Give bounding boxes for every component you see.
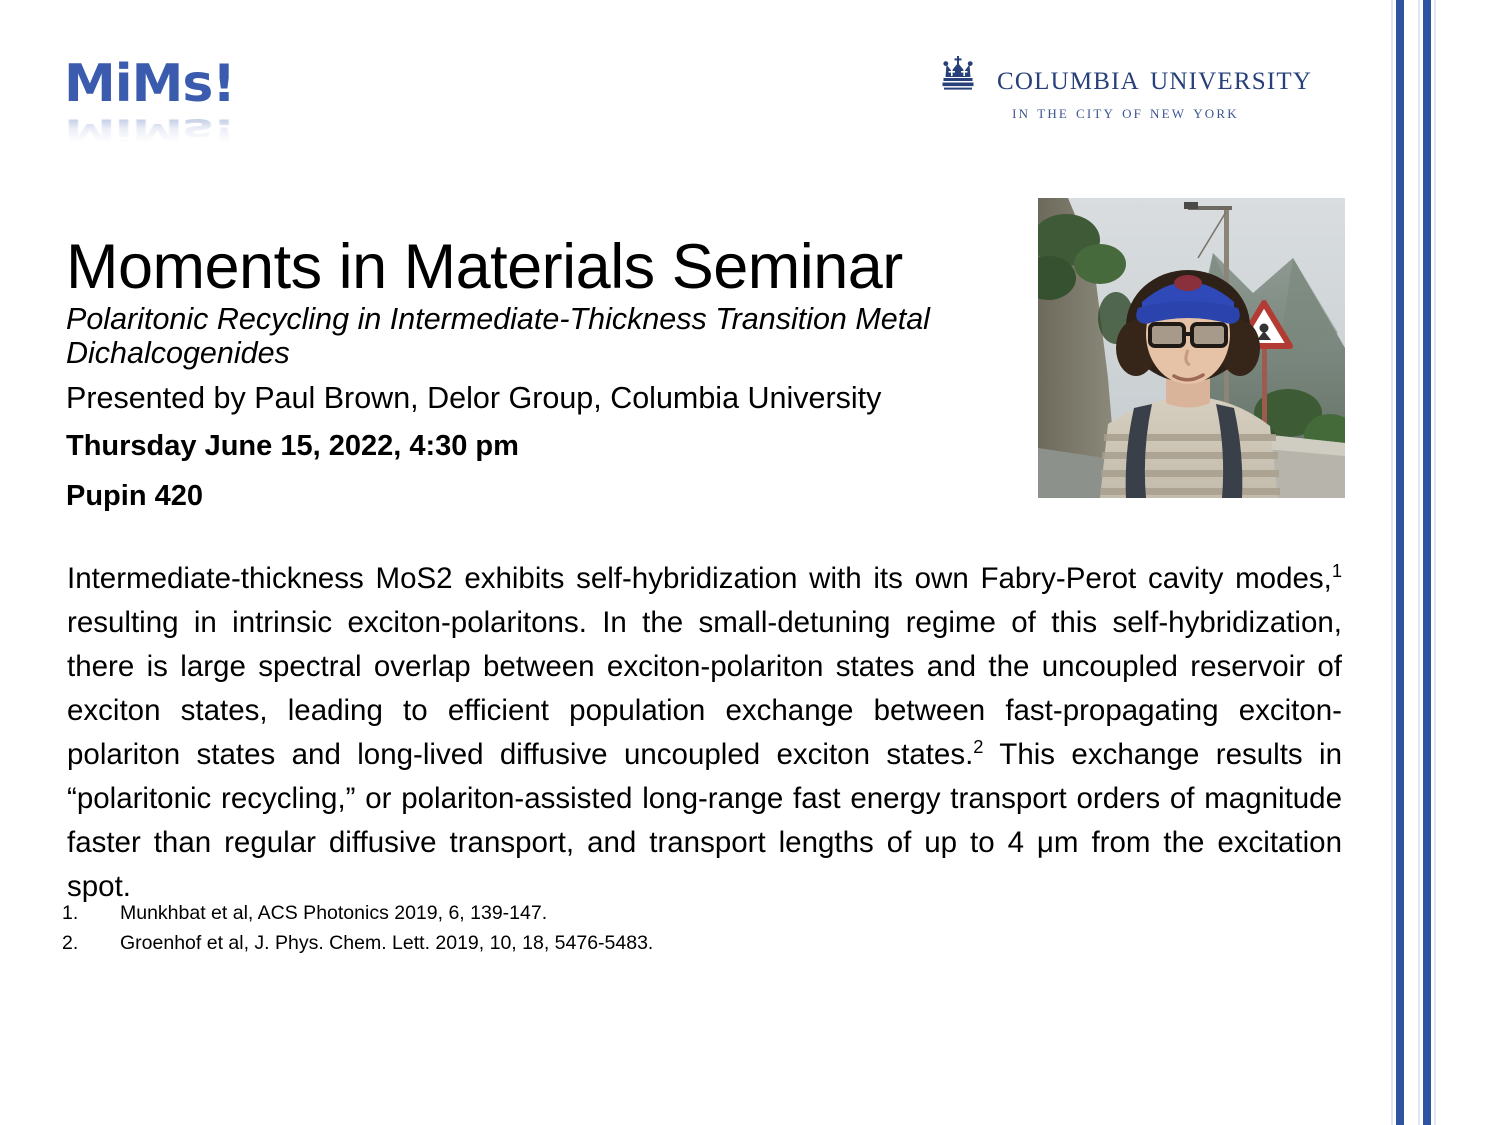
reference-text: Groenhof et al, J. Phys. Chem. Lett. 201… — [120, 928, 962, 958]
columbia-university-logo: Columbia University in the city of new y… — [935, 55, 1360, 124]
reference-number: 2. — [62, 928, 120, 958]
abstract-ref-marker-2: 2 — [973, 736, 983, 757]
decorative-hairline-rule — [1418, 0, 1420, 1125]
decorative-hairline-rule — [1391, 0, 1393, 1125]
mims-logo-reflection: MiMs! — [64, 114, 264, 146]
talk-title: Polaritonic Recycling in Intermediate-Th… — [66, 302, 1026, 370]
mims-logo: MiMs! MiMs! — [64, 58, 264, 168]
abstract-part-1: Intermediate-thickness MoS2 exhibits sel… — [67, 562, 1332, 595]
decorative-hairline-rule — [1434, 0, 1436, 1125]
reference-number: 1. — [62, 898, 120, 928]
page-title: Moments in Materials Seminar — [66, 234, 903, 300]
list-item: 1. Munkhbat et al, ACS Photonics 2019, 6… — [62, 898, 962, 928]
decorative-blue-rule-2 — [1423, 0, 1431, 1125]
columbia-university-subtitle: in the city of new york — [935, 102, 1360, 124]
crown-icon — [935, 55, 981, 96]
mims-logo-text: MiMs! — [64, 58, 264, 110]
columbia-university-name: Columbia University — [997, 58, 1312, 96]
talk-datetime: Thursday June 15, 2022, 4:30 pm — [66, 429, 1026, 463]
list-item: 2. Groenhof et al, J. Phys. Chem. Lett. … — [62, 928, 962, 958]
talk-presenter: Presented by Paul Brown, Delor Group, Co… — [66, 381, 1026, 415]
reference-text: Munkhbat et al, ACS Photonics 2019, 6, 1… — [120, 898, 962, 928]
reference-list: 1. Munkhbat et al, ACS Photonics 2019, 6… — [62, 898, 962, 958]
talk-room: Pupin 420 — [66, 479, 1026, 513]
abstract-text: Intermediate-thickness MoS2 exhibits sel… — [67, 557, 1342, 909]
decorative-blue-rule-1 — [1396, 0, 1404, 1125]
talk-details: Polaritonic Recycling in Intermediate-Th… — [66, 302, 1026, 513]
abstract-ref-marker-1: 1 — [1332, 560, 1342, 581]
speaker-photo — [1038, 198, 1345, 498]
seminar-poster: MiMs! MiMs! — [0, 0, 1500, 1125]
